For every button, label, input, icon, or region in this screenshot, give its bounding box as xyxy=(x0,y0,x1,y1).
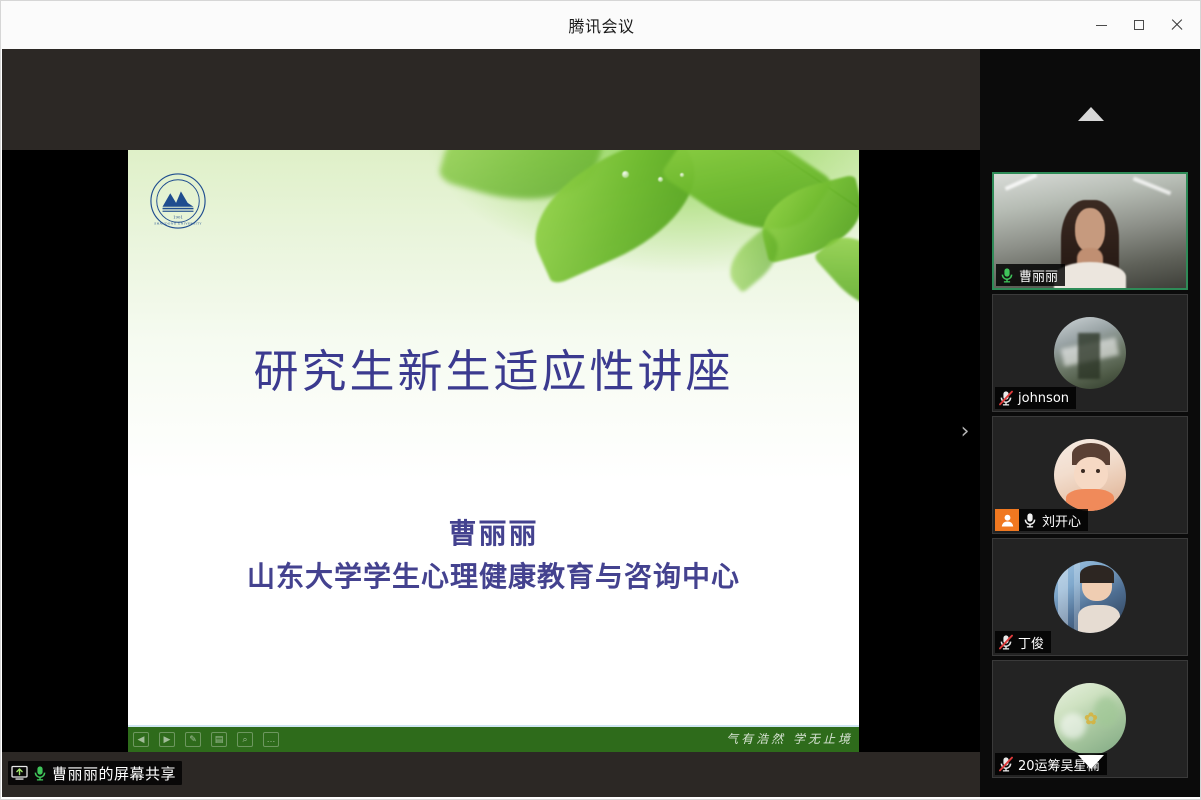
participant-tile[interactable]: 曹丽丽 xyxy=(992,172,1188,290)
participant-tile[interactable]: johnson xyxy=(992,294,1188,412)
microphone-on-icon xyxy=(1022,512,1038,528)
shared-screen-stage[interactable]: 1901 SHANDONG UNIVERSITY 研究生新生适应性讲座 曹丽丽 … xyxy=(2,49,980,797)
close-button[interactable] xyxy=(1158,10,1196,40)
slide-menu-icon[interactable]: ▤ xyxy=(211,732,227,747)
more-options-icon[interactable]: … xyxy=(263,732,279,747)
zoom-tool-icon[interactable]: ⌕ xyxy=(237,732,253,747)
svg-text:1901: 1901 xyxy=(173,214,183,219)
shared-powerpoint-slide: 1901 SHANDONG UNIVERSITY 研究生新生适应性讲座 曹丽丽 … xyxy=(128,150,859,752)
meeting-body: 1901 SHANDONG UNIVERSITY 研究生新生适应性讲座 曹丽丽 … xyxy=(2,49,1201,797)
next-slide-icon[interactable]: ▶ xyxy=(159,732,175,747)
host-person-icon xyxy=(995,509,1019,531)
water-droplet-decoration xyxy=(680,173,684,177)
chevron-right-icon[interactable]: › xyxy=(956,417,974,447)
microphone-on-icon xyxy=(999,267,1015,283)
scroll-down-arrow-icon[interactable] xyxy=(1078,755,1104,769)
microphone-muted-icon xyxy=(998,756,1014,772)
close-icon xyxy=(1171,19,1183,31)
scroll-up-arrow-icon[interactable] xyxy=(1078,107,1104,121)
shandong-university-seal-icon: 1901 SHANDONG UNIVERSITY xyxy=(149,172,207,230)
slide-title: 研究生新生适应性讲座 xyxy=(128,335,859,400)
participant-nameplate: 曹丽丽 xyxy=(996,264,1065,286)
screen-share-icon xyxy=(11,765,28,781)
participant-nameplate: 丁俊 xyxy=(995,631,1051,653)
maximize-icon xyxy=(1134,20,1144,30)
participant-name: 刘开心 xyxy=(1042,511,1081,530)
avatar xyxy=(1054,317,1126,389)
microphone-muted-icon xyxy=(998,390,1014,406)
presenter-toolbar-icons: ◀ ▶ ✎ ▤ ⌕ … xyxy=(128,732,279,747)
water-droplet-decoration xyxy=(622,171,629,178)
avatar: ✿ xyxy=(1054,683,1126,755)
slide-motto: 气有浩然 学无止境 xyxy=(726,730,853,747)
prev-slide-icon[interactable]: ◀ xyxy=(133,732,149,747)
share-owner-badge: 曹丽丽的屏幕共享 xyxy=(8,761,182,785)
participant-name: 丁俊 xyxy=(1018,633,1044,652)
participant-nameplate: 刘开心 xyxy=(1019,509,1088,531)
participant-sidebar[interactable]: 曹丽丽 johnson xyxy=(980,49,1201,797)
window-controls xyxy=(1082,1,1196,49)
powerpoint-presenter-toolbar: ◀ ▶ ✎ ▤ ⌕ … 气有浩然 学无止境 xyxy=(128,725,859,752)
stage-letterbox-top xyxy=(2,49,980,150)
participant-nameplate: johnson xyxy=(995,387,1076,409)
maximize-button[interactable] xyxy=(1120,10,1158,40)
pen-tool-icon[interactable]: ✎ xyxy=(185,732,201,747)
microphone-muted-icon xyxy=(998,634,1014,650)
window-title: 腾讯会议 xyxy=(568,13,634,37)
slide-presenter: 曹丽丽 xyxy=(128,512,859,552)
minimize-button[interactable] xyxy=(1082,10,1120,40)
avatar xyxy=(1054,561,1126,633)
minimize-icon xyxy=(1096,25,1107,26)
participant-name: 曹丽丽 xyxy=(1019,266,1058,285)
participant-tile[interactable]: 刘开心 xyxy=(992,416,1188,534)
avatar xyxy=(1054,439,1126,511)
microphone-on-icon xyxy=(32,765,48,781)
participant-name: johnson xyxy=(1018,391,1069,406)
tencent-meeting-window: 腾讯会议 xyxy=(0,0,1201,800)
participant-tile[interactable]: 丁俊 xyxy=(992,538,1188,656)
slide-affiliation: 山东大学学生心理健康教育与咨询中心 xyxy=(128,555,859,595)
title-bar: 腾讯会议 xyxy=(1,1,1201,49)
water-droplet-decoration xyxy=(658,177,663,182)
svg-text:SHANDONG UNIVERSITY: SHANDONG UNIVERSITY xyxy=(154,222,202,226)
share-owner-label: 曹丽丽的屏幕共享 xyxy=(52,763,176,784)
